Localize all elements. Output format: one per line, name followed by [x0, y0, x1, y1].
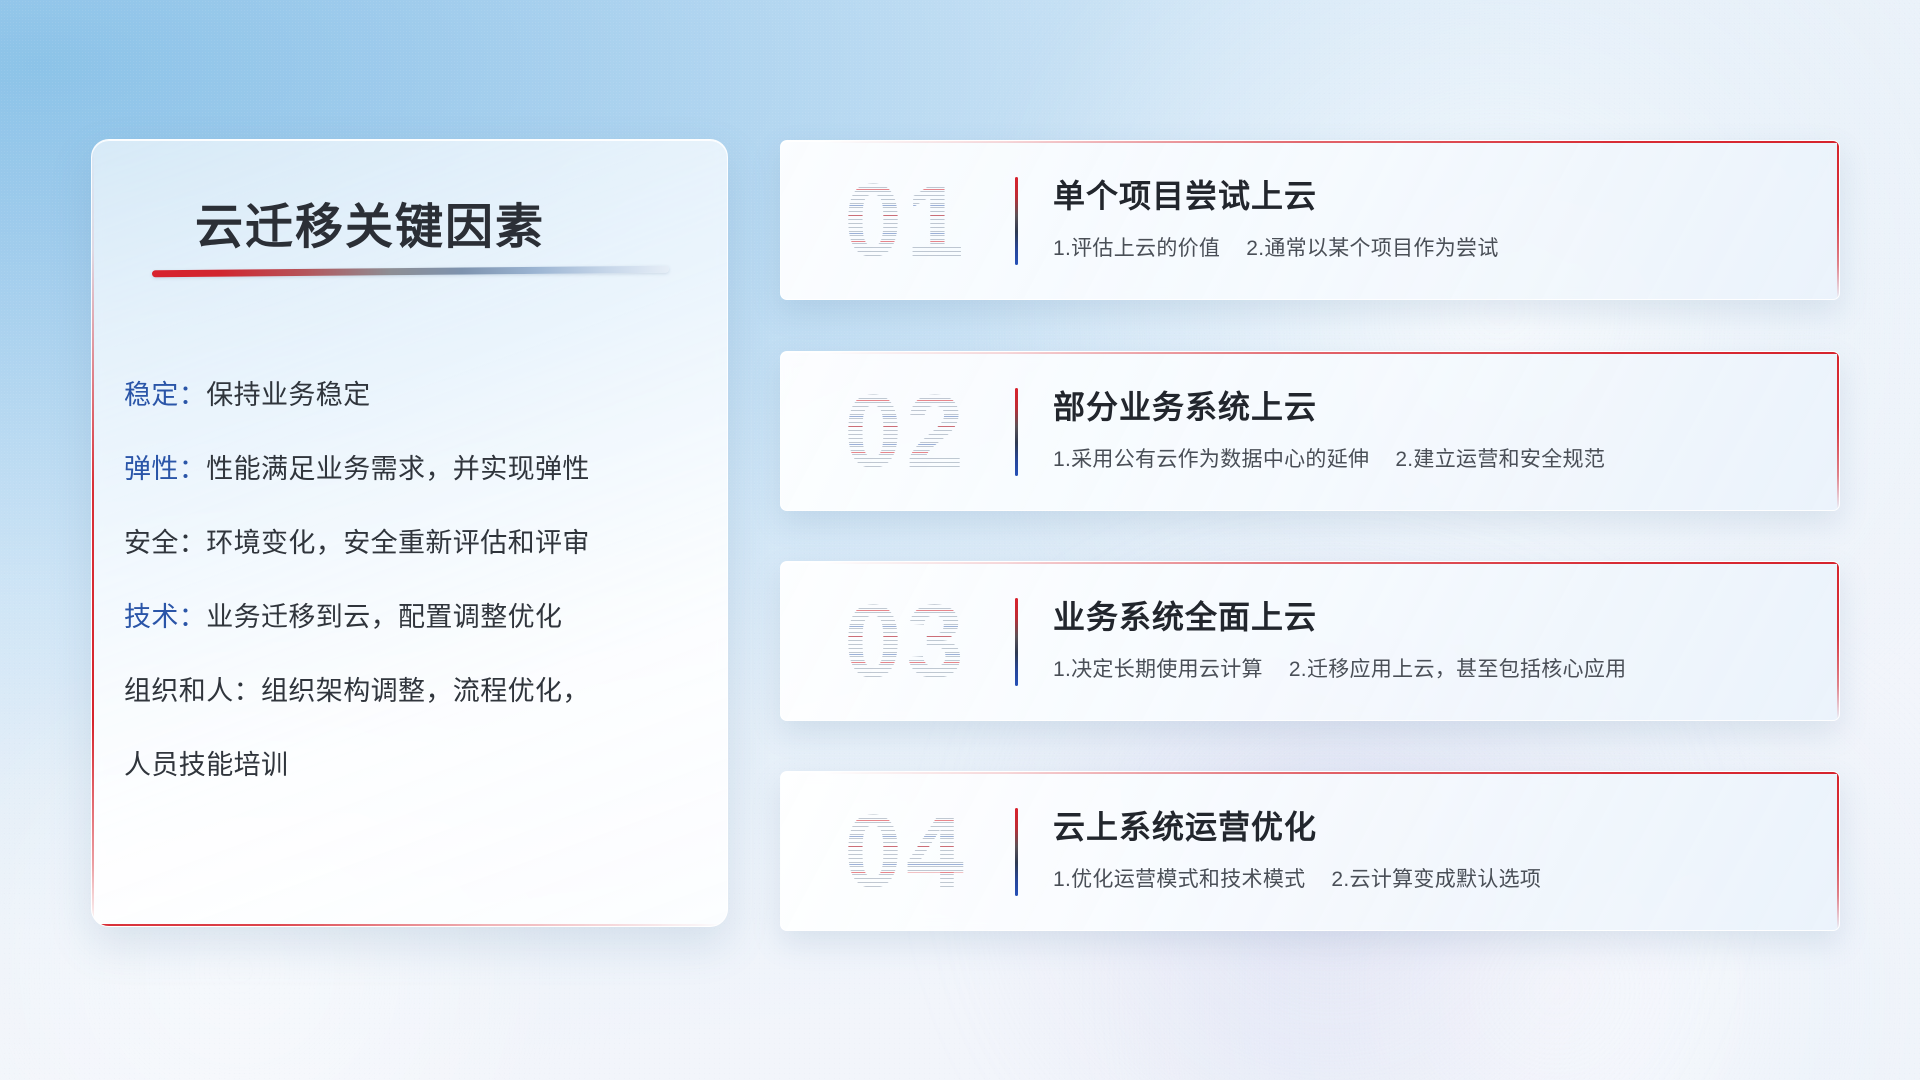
slide-stage: 云迁移关键因素 稳定：保持业务稳定 弹性：性能满足业务需求，并实现弹性 安全：环… [0, 0, 1920, 1080]
card-divider-bar [1015, 388, 1018, 476]
card-divider-bar [1015, 808, 1018, 896]
factor-text: 组织架构调整，流程优化， [261, 676, 590, 706]
key-factors-list: 稳定：保持业务稳定 弹性：性能满足业务需求，并实现弹性 安全：环境变化，安全重新… [124, 358, 694, 802]
step-number: 02 [811, 374, 1001, 490]
step-desc-part-b: 2.建立运营和安全规范 [1395, 448, 1605, 471]
list-item: 人员技能培训 [124, 728, 694, 802]
step-title: 部分业务系统上云 [1053, 382, 1317, 428]
step-number: 03 [811, 584, 1001, 700]
factor-text: 性能满足业务需求，并实现弹性 [206, 454, 590, 484]
step-desc-part-b: 2.通常以某个项目作为尝试 [1246, 237, 1498, 260]
card-divider-bar [1015, 177, 1018, 265]
step-description: 1.评估上云的价值2.通常以某个项目作为尝试 [1053, 232, 1499, 262]
card-right-accent [1837, 772, 1839, 930]
factor-text: 人员技能培训 [124, 750, 288, 780]
step-card[interactable]: 03 03 业务系统全面上云 1.决定长期使用云计算2.迁移应用上云，甚至包括核… [780, 561, 1840, 721]
step-title: 业务系统全面上云 [1053, 592, 1317, 638]
card-top-accent [823, 141, 1839, 143]
step-description: 1.决定长期使用云计算2.迁移应用上云，甚至包括核心应用 [1053, 653, 1626, 683]
step-desc-part-a: 1.优化运营模式和技术模式 [1053, 868, 1305, 891]
step-number: 04 [811, 794, 1001, 910]
title-underline-rule [152, 266, 669, 278]
page-title: 云迁移关键因素 [195, 187, 545, 257]
list-item: 弹性：性能满足业务需求，并实现弹性 [124, 432, 694, 506]
card-right-accent [1837, 352, 1839, 510]
factor-label: 技术： [124, 602, 206, 632]
step-title: 单个项目尝试上云 [1053, 171, 1317, 217]
card-divider-bar [1015, 598, 1018, 686]
step-desc-part-a: 1.决定长期使用云计算 [1053, 658, 1263, 681]
card-top-accent [823, 562, 1839, 564]
step-card[interactable]: 01 01 单个项目尝试上云 1.评估上云的价值2.通常以某个项目作为尝试 [780, 140, 1840, 300]
card-right-accent [1837, 141, 1839, 299]
list-item: 稳定：保持业务稳定 [124, 358, 694, 432]
card-top-accent [823, 772, 1839, 774]
factor-label: 弹性： [124, 454, 206, 484]
step-card[interactable]: 04 04 云上系统运营优化 1.优化运营模式和技术模式2.云计算变成默认选项 [780, 771, 1840, 931]
list-item: 组织和人：组织架构调整，流程优化， [124, 654, 694, 728]
step-card[interactable]: 02 02 部分业务系统上云 1.采用公有云作为数据中心的延伸2.建立运营和安全… [780, 351, 1840, 511]
panel-left-accent-bar [92, 140, 94, 926]
step-desc-part-a: 1.采用公有云作为数据中心的延伸 [1053, 448, 1369, 471]
panel-bottom-accent-bar [92, 924, 727, 926]
factor-text: 业务迁移到云，配置调整优化 [206, 602, 562, 632]
card-right-accent [1837, 562, 1839, 720]
step-number: 01 [811, 163, 1001, 279]
step-description: 1.采用公有云作为数据中心的延伸2.建立运营和安全规范 [1053, 443, 1605, 473]
factor-text: 保持业务稳定 [206, 380, 370, 410]
list-item: 安全：环境变化，安全重新评估和评审 [124, 506, 694, 580]
factor-text: 环境变化，安全重新评估和评审 [206, 528, 590, 558]
step-title: 云上系统运营优化 [1053, 802, 1317, 848]
step-description: 1.优化运营模式和技术模式2.云计算变成默认选项 [1053, 863, 1541, 893]
step-desc-part-b: 2.迁移应用上云，甚至包括核心应用 [1289, 658, 1627, 681]
card-top-accent [823, 352, 1839, 354]
factor-label: 组织和人： [124, 676, 261, 706]
key-factors-panel: 云迁移关键因素 稳定：保持业务稳定 弹性：性能满足业务需求，并实现弹性 安全：环… [91, 139, 728, 927]
step-desc-part-b: 2.云计算变成默认选项 [1331, 868, 1541, 891]
list-item: 技术：业务迁移到云，配置调整优化 [124, 580, 694, 654]
factor-label: 安全： [124, 528, 206, 558]
step-desc-part-a: 1.评估上云的价值 [1053, 237, 1220, 260]
factor-label: 稳定： [124, 380, 206, 410]
